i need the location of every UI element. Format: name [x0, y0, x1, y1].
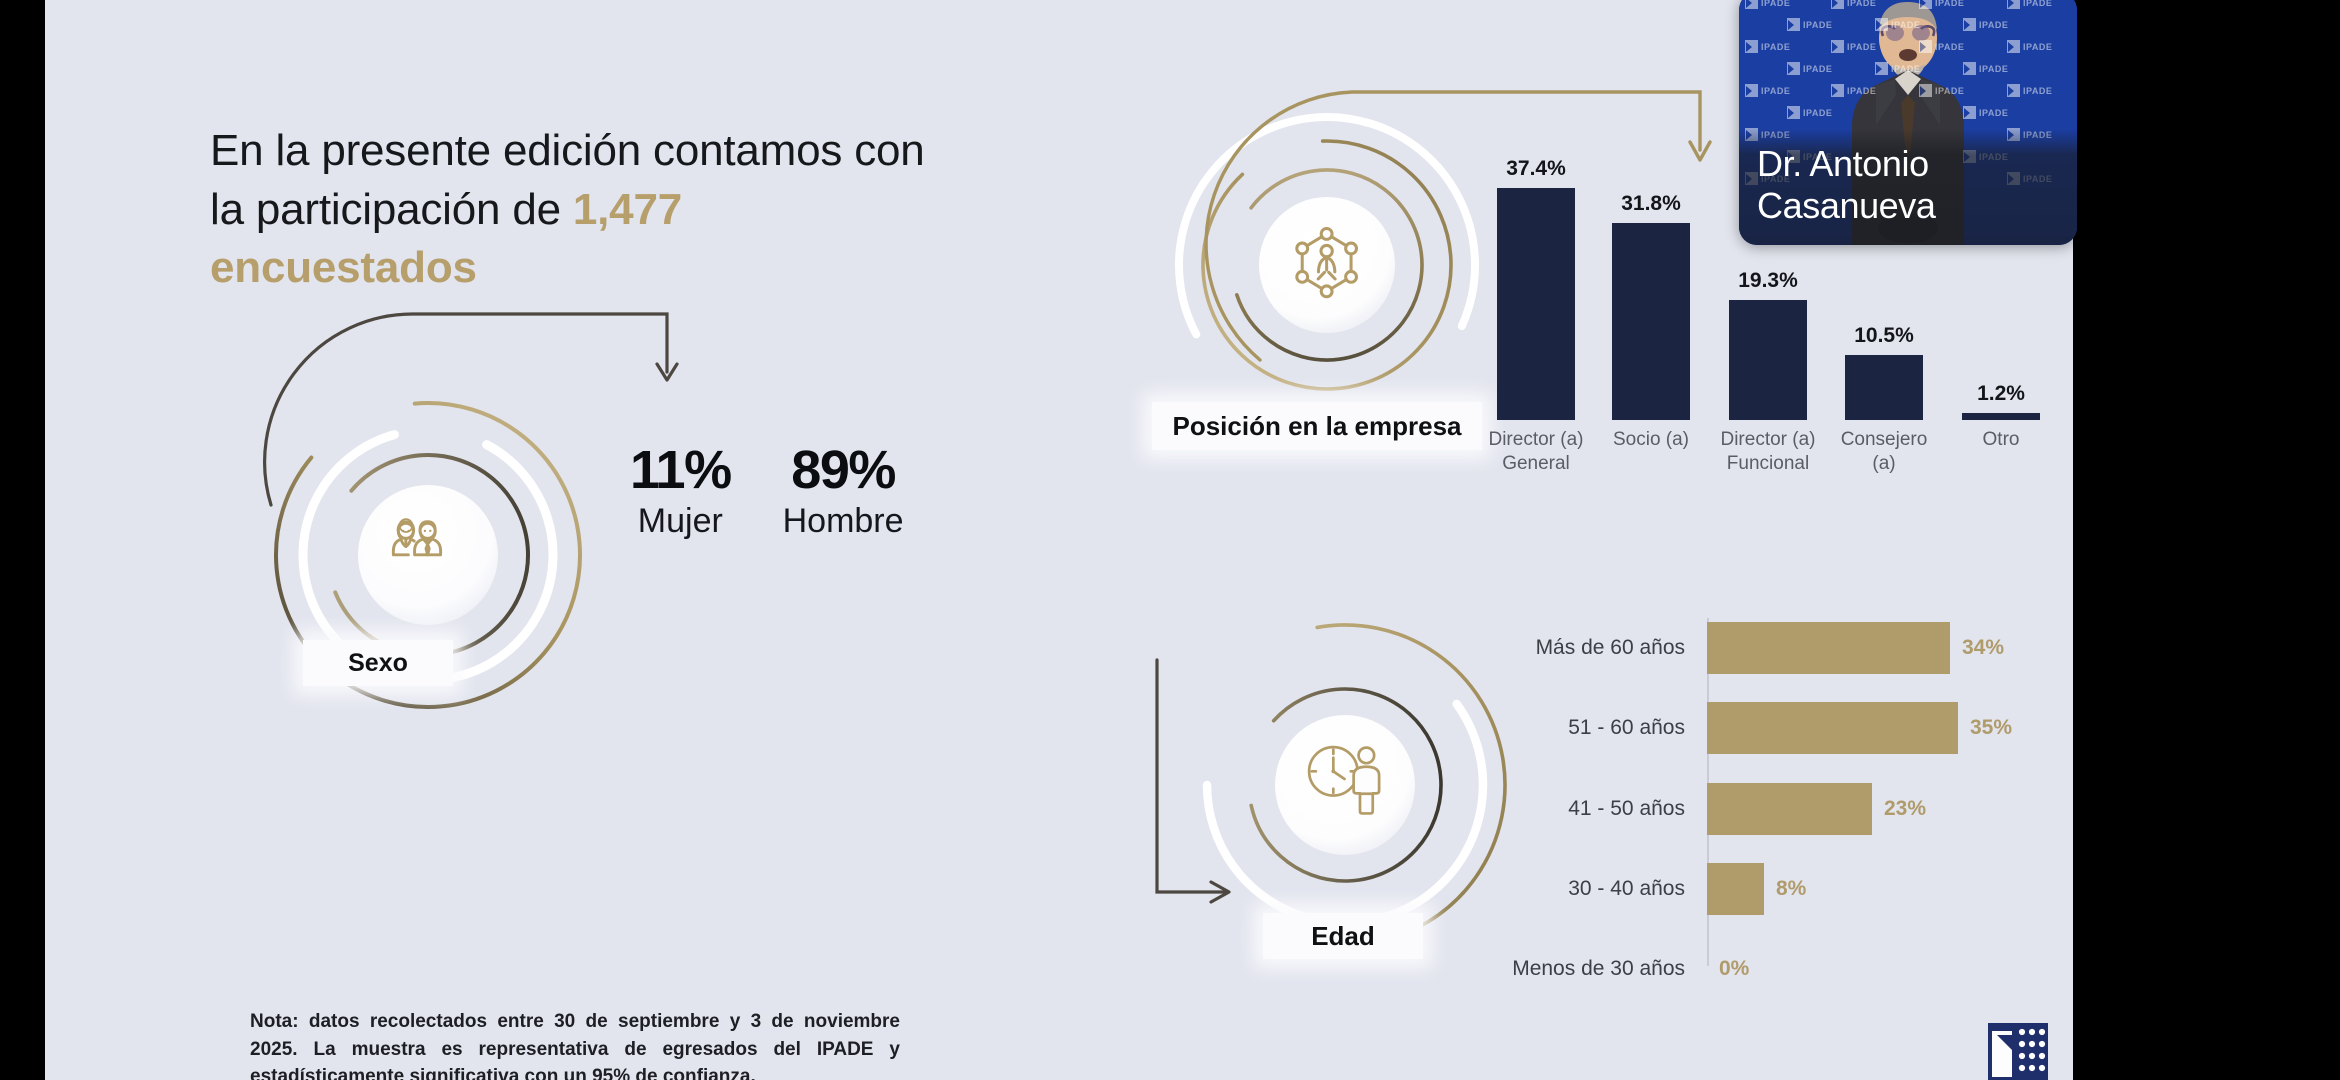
- hbar-track: 34%: [1707, 622, 2073, 674]
- bar-category-label: Consejero (a): [1829, 428, 1939, 476]
- bar-rect: [1729, 300, 1807, 420]
- footnote: Nota: datos recolectados entre 30 de sep…: [250, 1008, 900, 1080]
- hbar-category-label: 30 - 40 años: [1495, 877, 1707, 901]
- speaker-name-caption: Dr. Antonio Casanueva: [1739, 129, 2077, 245]
- bar-value-label: 37.4%: [1506, 157, 1566, 181]
- speaker-video-overlay[interactable]: IPADE IPADE IPADE IPADE IPADE IPADE IPAD…: [1739, 0, 2077, 245]
- bar-column: 31.8%: [1612, 150, 1690, 420]
- screen: En la presente edición contamos con la p…: [0, 0, 2340, 1080]
- stat-mujer-label: Mujer: [630, 500, 731, 543]
- bar-rect: [1962, 413, 2040, 420]
- hbar-category-label: Menos de 30 años: [1495, 957, 1707, 981]
- hbar-value-label: 34%: [1962, 636, 2004, 660]
- hbar-rect: [1707, 702, 1958, 754]
- bar-category-label: Director (a) General: [1481, 428, 1591, 476]
- bar-rect: [1845, 355, 1923, 420]
- stat-hombre-label: Hombre: [783, 500, 904, 543]
- hbar-row: Menos de 30 años0%: [1495, 943, 2073, 995]
- bar-value-label: 1.2%: [1977, 382, 2025, 406]
- bar-rect: [1497, 188, 1575, 420]
- hbar-category-label: 51 - 60 años: [1495, 716, 1707, 740]
- sexo-stats: 11% Mujer 89% Hombre: [630, 443, 904, 543]
- hbar-rect: [1707, 622, 1950, 674]
- hbar-row: 51 - 60 años35%: [1495, 702, 2073, 754]
- headline-lead: En la presente edición contamos con la p…: [210, 126, 925, 234]
- hbar-rect: [1707, 783, 1872, 835]
- hbar-value-label: 35%: [1970, 716, 2012, 740]
- stat-mujer: 11% Mujer: [630, 443, 731, 543]
- stat-hombre-value: 89%: [783, 443, 904, 497]
- hbar-category-label: 41 - 50 años: [1495, 797, 1707, 821]
- sexo-badge: Sexo: [303, 640, 453, 686]
- hbar-track: 23%: [1707, 783, 2073, 835]
- hbar-value-label: 8%: [1776, 877, 1806, 901]
- hbar-category-label: Más de 60 años: [1495, 636, 1707, 660]
- bar-value-label: 19.3%: [1738, 269, 1798, 293]
- hbar-row: Más de 60 años34%: [1495, 622, 2073, 674]
- hbar-value-label: 0%: [1719, 957, 1749, 981]
- bar-value-label: 31.8%: [1621, 192, 1681, 216]
- edad-connector-arrow: [1125, 660, 1385, 1010]
- hbar-track: 8%: [1707, 863, 2073, 915]
- speaker-name-line2: Casanueva: [1757, 185, 2059, 227]
- page-title: En la presente edición contamos con la p…: [210, 122, 930, 298]
- stat-mujer-value: 11%: [630, 443, 731, 497]
- edad-bar-chart: Más de 60 años34%51 - 60 años35%41 - 50 …: [1495, 622, 2073, 982]
- hbar-rect: [1707, 863, 1764, 915]
- stat-hombre: 89% Hombre: [783, 443, 904, 543]
- hbar-row: 41 - 50 años23%: [1495, 783, 2073, 835]
- hbar-value-label: 23%: [1884, 797, 1926, 821]
- bar-column: 37.4%: [1497, 150, 1575, 420]
- bar-category-label: Socio (a): [1596, 428, 1706, 452]
- speaker-name-line1: Dr. Antonio: [1757, 143, 2059, 185]
- bar-category-label: Director (a) Funcional: [1713, 428, 1823, 476]
- bar-category-label: Otro: [1946, 428, 2056, 452]
- hbar-row: 30 - 40 años8%: [1495, 863, 2073, 915]
- hbar-track: 35%: [1707, 702, 2073, 754]
- ipade-logo: [1988, 1023, 2048, 1080]
- bar-value-label: 10.5%: [1854, 324, 1914, 348]
- bar-rect: [1612, 223, 1690, 420]
- hbar-track: 0%: [1707, 943, 2073, 995]
